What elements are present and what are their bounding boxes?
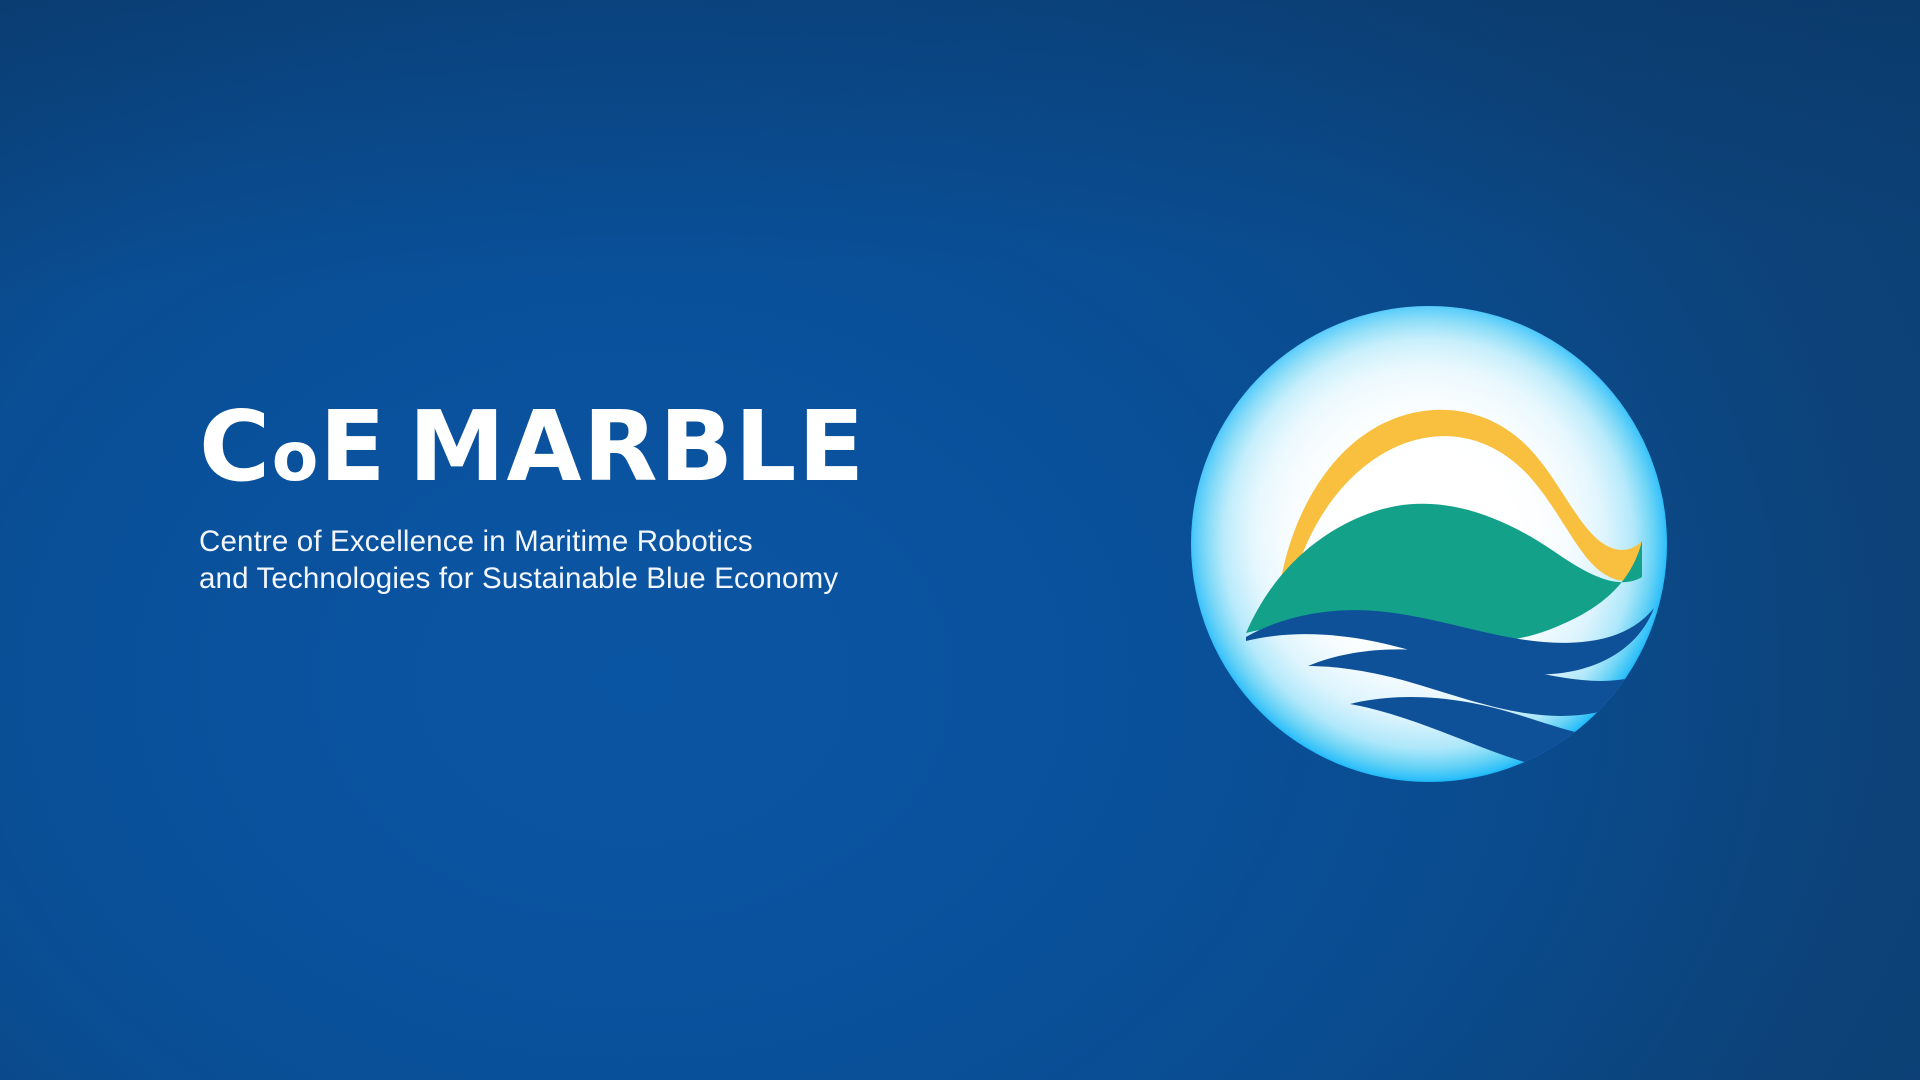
- title-letter-o: o: [272, 418, 320, 497]
- page-subtitle: Centre of Excellence in Maritime Robotic…: [199, 524, 1099, 597]
- title-letter-c: C: [199, 390, 272, 503]
- page-title: CoEMARBLE: [199, 398, 1099, 495]
- subtitle-line-2: and Technologies for Sustainable Blue Ec…: [199, 562, 838, 595]
- slide-canvas: CoEMARBLE Centre of Excellence in Mariti…: [0, 0, 1920, 1080]
- coe-marble-logo: [1190, 305, 1668, 783]
- subtitle-line-1: Centre of Excellence in Maritime Robotic…: [199, 525, 753, 558]
- brand-text-block: CoEMARBLE Centre of Excellence in Mariti…: [199, 398, 1099, 597]
- title-word-marble: MARBLE: [408, 390, 865, 503]
- title-letter-e: E: [319, 390, 387, 503]
